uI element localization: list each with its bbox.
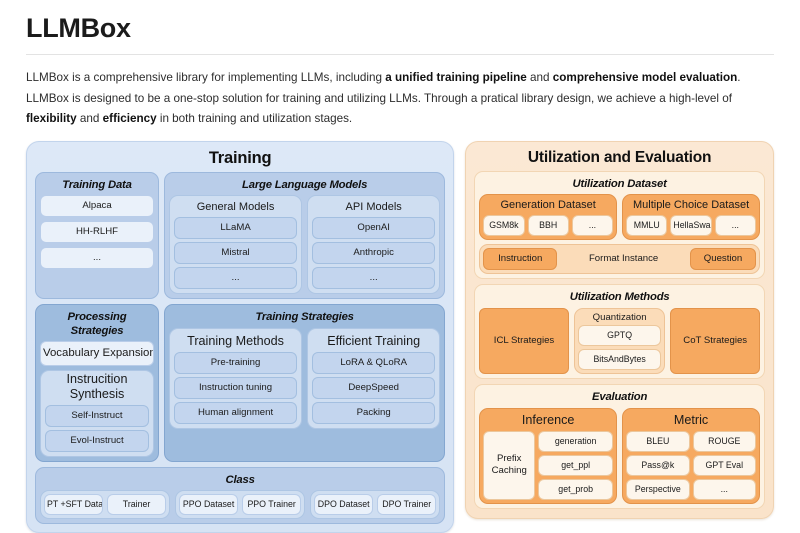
llmbox-overview-page: LLMBox LLMBox is a comprehensive library…: [0, 0, 800, 486]
list-item[interactable]: HH-RLHF: [40, 221, 154, 243]
generation-dataset-title: Generation Dataset: [483, 198, 613, 215]
utilization-panel: Utilization and Evaluation Utilization D…: [465, 141, 774, 519]
efficient-training-group: Efficient Training LoRA & QLoRA DeepSpee…: [307, 328, 440, 429]
quantization-group: Quantization GPTQ BitsAndBytes: [574, 308, 666, 374]
training-row-1: Training Data Alpaca HH-RLHF ... Large L…: [35, 172, 445, 300]
efficient-training-title: Efficient Training: [312, 333, 435, 352]
evaluation-subgroups: Inference Prefix Caching generation get_…: [479, 408, 760, 504]
list-item[interactable]: Evol-Instruct: [45, 430, 149, 452]
instruction-synthesis-group: Instrucition Synthesis Self-Instruct Evo…: [40, 370, 154, 457]
training-methods-items: Pre-training Instruction tuning Human al…: [174, 352, 297, 424]
cot-strategies-chip[interactable]: CoT Strategies: [670, 308, 760, 374]
inference-fn-items: generation get_ppl get_prob: [538, 431, 613, 500]
large-language-models-group: Large Language Models General Models LLa…: [164, 172, 445, 300]
multiple-choice-dataset-group: Multiple Choice Dataset MMLU HellaSwag .…: [622, 194, 760, 240]
list-item[interactable]: LLaMA: [174, 217, 297, 239]
utilization-dataset-group: Utilization Dataset Generation Dataset G…: [474, 171, 765, 280]
training-strategies-title: Training Strategies: [169, 309, 440, 328]
training-methods-group: Training Methods Pre-training Instructio…: [169, 328, 302, 429]
list-item[interactable]: get_prob: [538, 479, 613, 500]
format-instance-row: Instruction Format Instance Question: [479, 244, 760, 274]
training-strategies-group: Training Strategies Training Methods Pre…: [164, 304, 445, 462]
training-data-items: Alpaca HH-RLHF ...: [40, 195, 154, 269]
instruction-synthesis-items: Self-Instruct Evol-Instruct: [45, 405, 149, 452]
list-item[interactable]: GPT Eval: [693, 455, 756, 476]
utilization-dataset-title: Utilization Dataset: [479, 176, 760, 195]
list-item[interactable]: generation: [538, 431, 613, 452]
llm-title: Large Language Models: [169, 177, 440, 196]
inference-items: Prefix Caching generation get_ppl get_pr…: [483, 431, 613, 500]
class-rows: PT +SFT Dataset Trainer PPO Dataset PPO …: [40, 490, 440, 519]
list-item[interactable]: PPO Trainer: [242, 494, 301, 515]
list-item[interactable]: DPO Dataset: [314, 494, 373, 515]
list-item[interactable]: Self-Instruct: [45, 405, 149, 427]
question-chip[interactable]: Question: [690, 248, 756, 270]
general-models-items: LLaMA Mistral ...: [174, 217, 297, 289]
processing-strategies-group: Processing Strategies Vocabulary Expansi…: [35, 304, 159, 462]
training-data-title: Training Data: [40, 177, 154, 196]
list-item[interactable]: ...: [174, 267, 297, 289]
list-item[interactable]: BLEU: [626, 431, 689, 452]
llm-subgroups: General Models LLaMA Mistral ... API Mod…: [169, 195, 440, 294]
utilization-methods-title: Utilization Methods: [479, 289, 760, 308]
list-item[interactable]: Vocabulary Expansion: [40, 341, 154, 365]
metric-row: Pass@k GPT Eval: [626, 455, 756, 476]
prefix-caching-chip[interactable]: Prefix Caching: [483, 431, 535, 500]
list-item[interactable]: DPO Trainer: [377, 494, 436, 515]
multiple-choice-dataset-title: Multiple Choice Dataset: [626, 198, 756, 215]
training-methods-title: Training Methods: [174, 333, 297, 352]
utilization-panel-title: Utilization and Evaluation: [474, 148, 765, 170]
api-models-items: OpenAI Anthropic ...: [312, 217, 435, 289]
generation-dataset-group: Generation Dataset GSM8k BBH ...: [479, 194, 617, 240]
efficient-training-items: LoRA & QLoRA DeepSpeed Packing: [312, 352, 435, 424]
list-item[interactable]: Mistral: [174, 242, 297, 264]
metric-group: Metric BLEU ROUGE Pass@k GPT Eval: [622, 408, 760, 504]
format-instance-label: Format Instance: [561, 249, 686, 269]
training-panel: Training Training Data Alpaca HH-RLHF ..…: [26, 141, 454, 533]
training-strategies-subgroups: Training Methods Pre-training Instructio…: [169, 328, 440, 429]
training-panel-title: Training: [35, 148, 445, 171]
class-subgroup-dpo: DPO Dataset DPO Trainer: [310, 490, 440, 519]
list-item[interactable]: Trainer: [107, 494, 166, 515]
intro-paragraph: LLMBox is a comprehensive library for im…: [26, 68, 774, 130]
list-item[interactable]: DeepSpeed: [312, 377, 435, 399]
list-item[interactable]: Instruction tuning: [174, 377, 297, 399]
list-item[interactable]: GPTQ: [578, 325, 662, 346]
list-item[interactable]: Human alignment: [174, 402, 297, 424]
general-models-title: General Models: [174, 200, 297, 217]
api-models-title: API Models: [312, 200, 435, 217]
training-row-2: Processing Strategies Vocabulary Expansi…: [35, 304, 445, 462]
architecture-diagram: Training Training Data Alpaca HH-RLHF ..…: [26, 141, 774, 533]
instruction-synthesis-title: Instrucition Synthesis: [45, 371, 149, 405]
general-models-group: General Models LLaMA Mistral ...: [169, 195, 302, 294]
list-item[interactable]: BitsAndBytes: [578, 349, 662, 370]
list-item[interactable]: MMLU: [626, 215, 667, 236]
api-models-group: API Models OpenAI Anthropic ...: [307, 195, 440, 294]
generation-dataset-items: GSM8k BBH ...: [483, 215, 613, 236]
list-item[interactable]: PPO Dataset: [179, 494, 238, 515]
processing-strategies-title: Processing Strategies: [40, 309, 154, 341]
list-item[interactable]: PT +SFT Dataset: [44, 494, 103, 515]
list-item[interactable]: Anthropic: [312, 242, 435, 264]
class-group: Class PT +SFT Dataset Trainer PPO Datase…: [35, 467, 445, 525]
list-item[interactable]: BBH: [528, 215, 569, 236]
utilization-methods-items: ICL Strategies Quantization GPTQ BitsAnd…: [479, 308, 760, 374]
class-subgroup-ppo: PPO Dataset PPO Trainer: [175, 490, 305, 519]
class-title: Class: [40, 472, 440, 491]
training-data-group: Training Data Alpaca HH-RLHF ...: [35, 172, 159, 300]
class-subgroup-sft: PT +SFT Dataset Trainer: [40, 490, 170, 519]
instruction-chip[interactable]: Instruction: [483, 248, 557, 270]
multiple-choice-dataset-items: MMLU HellaSwag ...: [626, 215, 756, 236]
list-item[interactable]: HellaSwag: [670, 215, 711, 236]
metric-row: BLEU ROUGE: [626, 431, 756, 452]
list-item[interactable]: Alpaca: [40, 195, 154, 217]
metric-title: Metric: [626, 412, 756, 431]
list-item[interactable]: Pass@k: [626, 455, 689, 476]
inference-group: Inference Prefix Caching generation get_…: [479, 408, 617, 504]
list-item[interactable]: ...: [693, 479, 756, 500]
list-item[interactable]: ROUGE: [693, 431, 756, 452]
list-item[interactable]: ...: [572, 215, 613, 236]
list-item[interactable]: ...: [312, 267, 435, 289]
evaluation-title: Evaluation: [479, 389, 760, 408]
metric-row: Perspective ...: [626, 479, 756, 500]
list-item[interactable]: get_ppl: [538, 455, 613, 476]
page-title: LLMBox: [26, 0, 774, 44]
list-item[interactable]: Perspective: [626, 479, 689, 500]
utilization-dataset-subgroups: Generation Dataset GSM8k BBH ... Multipl…: [479, 194, 760, 240]
list-item[interactable]: ...: [715, 215, 756, 236]
metric-items: BLEU ROUGE Pass@k GPT Eval Perspective .…: [626, 431, 756, 500]
icl-strategies-chip[interactable]: ICL Strategies: [479, 308, 569, 374]
list-item[interactable]: Packing: [312, 402, 435, 424]
list-item[interactable]: Pre-training: [174, 352, 297, 374]
quantization-items: GPTQ BitsAndBytes: [578, 325, 662, 370]
list-item[interactable]: OpenAI: [312, 217, 435, 239]
list-item[interactable]: GSM8k: [483, 215, 524, 236]
quantization-title: Quantization: [578, 312, 662, 326]
title-divider: [26, 54, 774, 55]
list-item[interactable]: LoRA & QLoRA: [312, 352, 435, 374]
evaluation-group: Evaluation Inference Prefix Caching gene…: [474, 384, 765, 509]
list-item[interactable]: ...: [40, 247, 154, 269]
utilization-methods-group: Utilization Methods ICL Strategies Quant…: [474, 284, 765, 379]
inference-title: Inference: [483, 412, 613, 431]
